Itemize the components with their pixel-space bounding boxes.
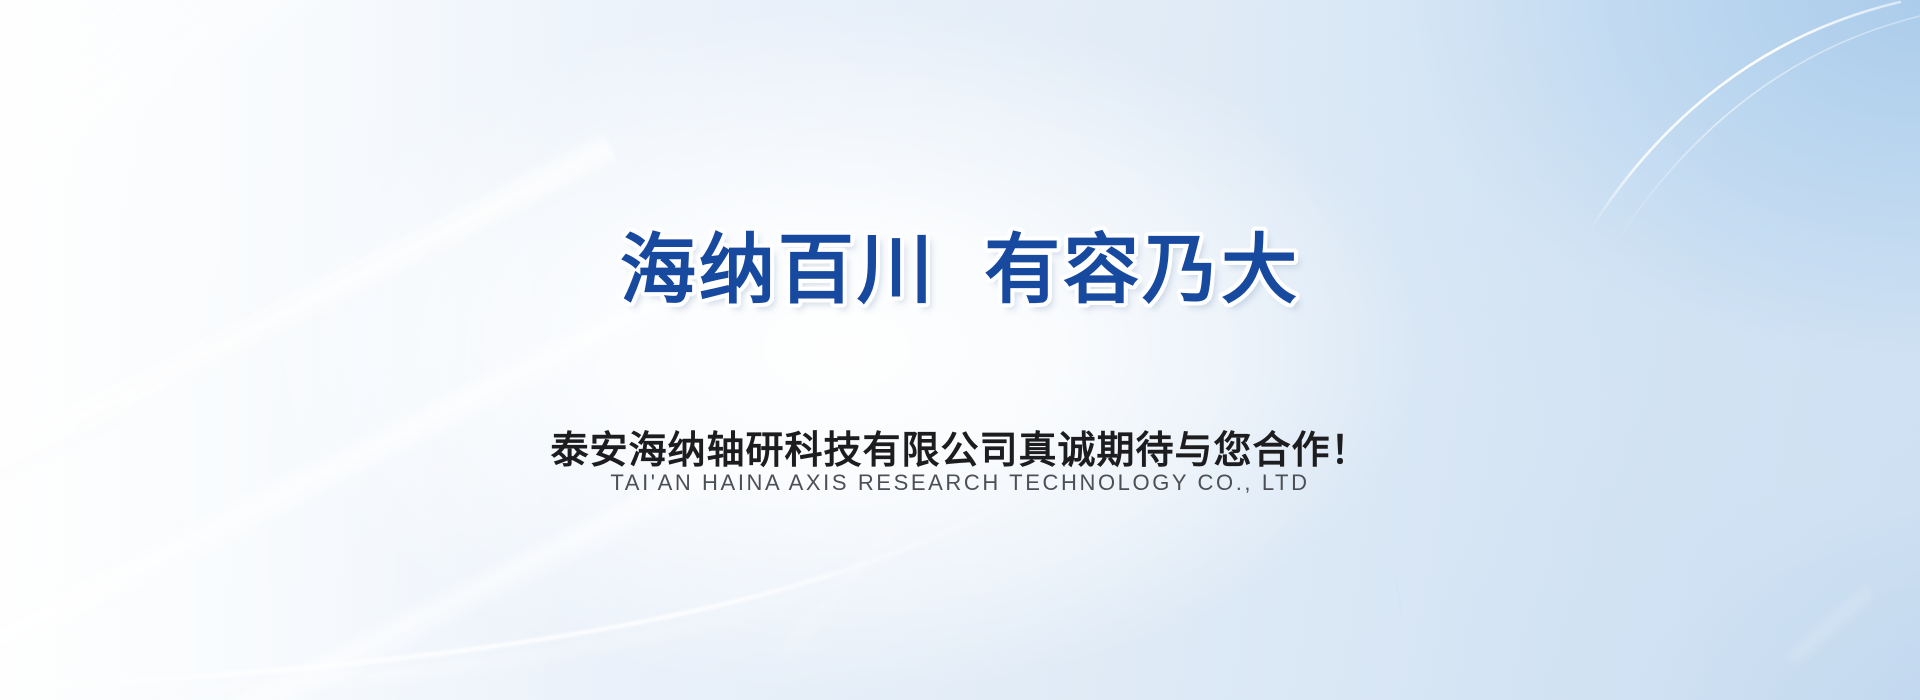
banner-content: 海纳百川 有容乃大 泰安海纳轴研科技有限公司真诚期待与您合作！ TAI'AN H…	[0, 0, 1920, 700]
banner-headline: 海纳百川 有容乃大	[0, 233, 1920, 309]
banner-subtitle-english: TAI'AN HAINA AXIS RESEARCH TECHNOLOGY CO…	[0, 470, 1920, 496]
hero-banner: 海纳百川 有容乃大 泰安海纳轴研科技有限公司真诚期待与您合作！ TAI'AN H…	[0, 0, 1920, 700]
banner-subtitle-chinese: 泰安海纳轴研科技有限公司真诚期待与您合作！	[0, 428, 1920, 474]
